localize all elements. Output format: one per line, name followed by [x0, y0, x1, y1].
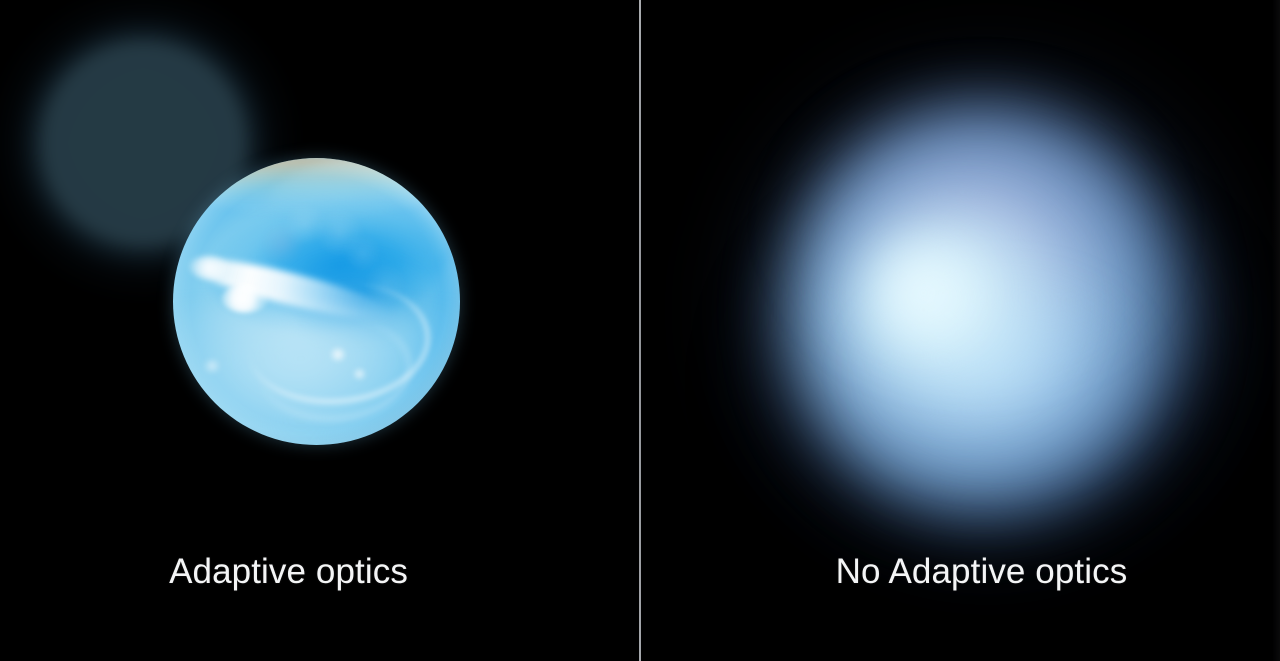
- blur-core-peak: [873, 248, 983, 340]
- caption-no-adaptive-optics: No Adaptive optics: [662, 553, 1280, 592]
- planet-disc: [173, 158, 460, 445]
- panel-adaptive-optics: Adaptive optics: [0, 0, 639, 661]
- planet-neptune-sharp-icon: [173, 158, 460, 445]
- figure-canvas: Adaptive optics No Adaptive optics: [0, 0, 1280, 661]
- panel-no-adaptive-optics: No Adaptive optics: [641, 0, 1280, 661]
- limb-darkening: [173, 158, 460, 445]
- caption-adaptive-optics: Adaptive optics: [0, 553, 608, 592]
